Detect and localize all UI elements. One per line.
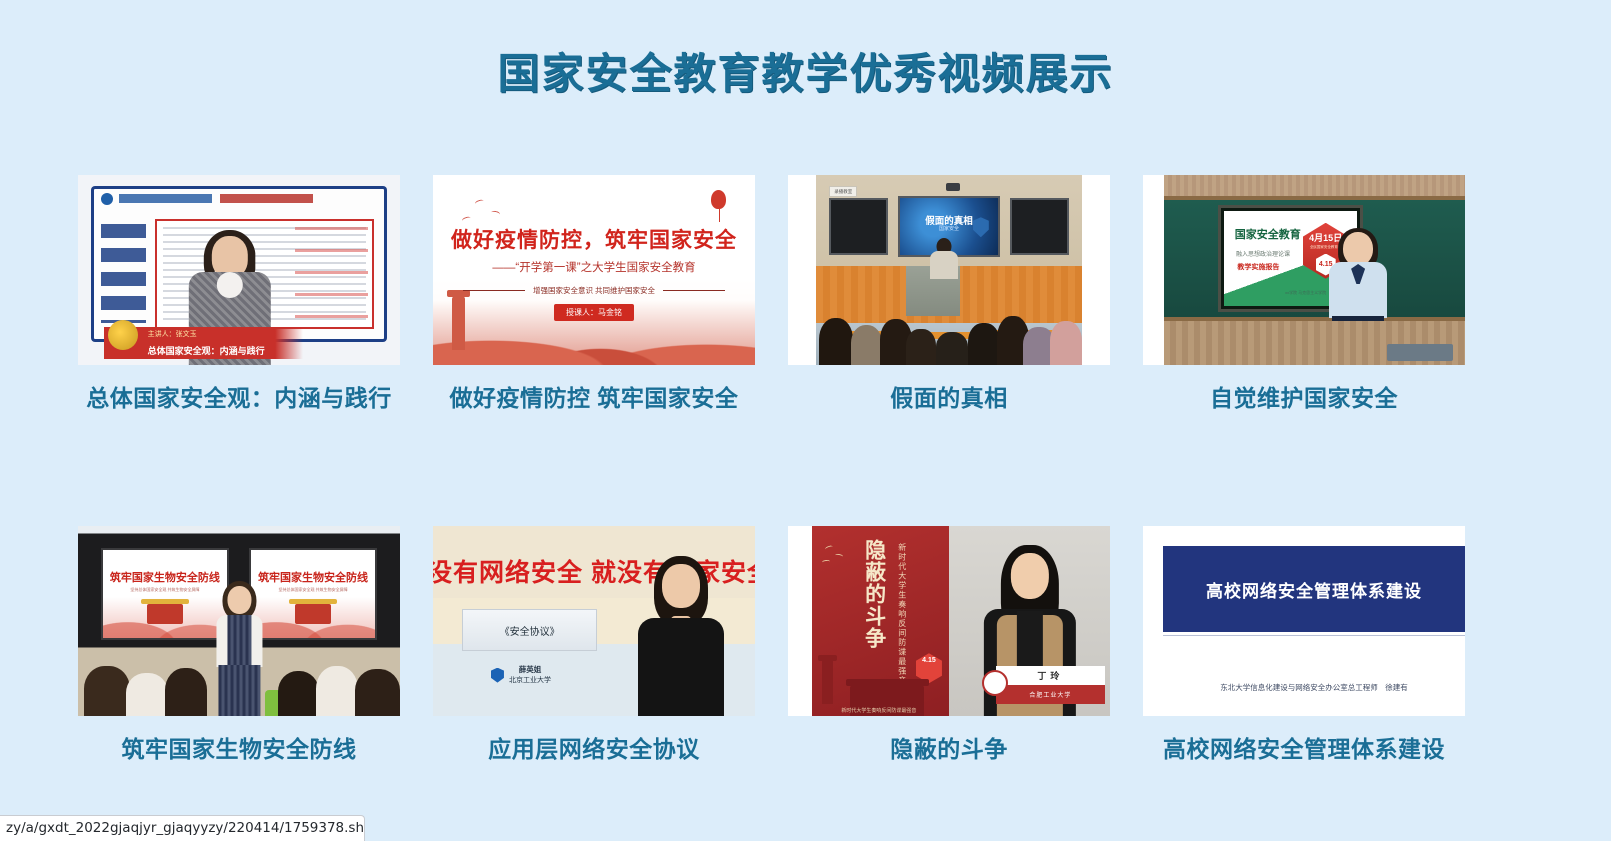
video-card-1[interactable]: 主讲人：张文玉 总体国家安全观：内涵与践行 总体国家安全观：内涵与践行 xyxy=(78,175,400,413)
topic-panel: 《安全协议》 xyxy=(462,609,597,651)
presenter-collar xyxy=(216,272,242,298)
university-logo-row xyxy=(101,190,314,207)
screen-title: 筑牢国家生物安全防线 xyxy=(103,569,228,585)
student-silhouette xyxy=(851,325,883,365)
presenter-head xyxy=(662,564,700,608)
video-card-5[interactable]: 筑牢国家生物安全防线 坚持总体国家安全观 共筑生物安全屏障 筑牢国家生物安全防线… xyxy=(78,526,400,764)
screen-title: 筑牢国家生物安全防线 xyxy=(251,569,376,585)
video-thumbnail-7[interactable]: 丁玲 合肥工业大学 隐蔽的斗争 新时代大学生奏响反间防谍最强音 4.15 新时代… xyxy=(788,526,1110,716)
lower-third-title: 总体国家安全观：内涵与践行 xyxy=(148,344,265,357)
speaker-credit-text: 薛英姐 北京工业大学 xyxy=(509,664,551,686)
presenter-panel: 丁玲 合肥工业大学 xyxy=(949,526,1110,716)
screen-subtitle: 坚持总体国家安全观 共筑生物安全屏障 xyxy=(103,587,228,593)
slide-divider xyxy=(1163,635,1465,637)
screen-subtitle: 国家安全 xyxy=(900,225,997,232)
video-thumbnail-4[interactable]: 国家安全教育 融入思想政治理论课 教学实施报告 xx学院 马克思主义学院 4月1… xyxy=(1143,175,1465,365)
poster-footer-note: 新时代大学生奏响反间防谍最强音 xyxy=(841,707,916,714)
presentation-screen-right: 筑牢国家生物安全防线 坚持总体国家安全观 共筑生物安全屏障 xyxy=(249,548,378,639)
poster-speaker-badge: 授课人：马金铭 xyxy=(554,304,634,321)
presenter-head xyxy=(1010,553,1048,599)
video-thumbnail-2[interactable]: 做好疫情防控，筑牢国家安全 ——“开学第一课”之大学生国家安全教育 增强国家安全… xyxy=(433,175,755,365)
tiananmen-icon xyxy=(147,604,183,624)
slide-title: 高校网络安全管理体系建设 xyxy=(1206,577,1422,602)
video-caption-8[interactable]: 高校网络安全管理体系建设 xyxy=(1143,736,1465,764)
video-gallery-page: 国家安全教育教学优秀视频展示 xyxy=(0,0,1611,841)
presenter-body xyxy=(638,618,724,716)
seal-icon xyxy=(982,670,1008,696)
video-thumbnail-6[interactable]: 没有网络安全 就没有国家安全 《安全协议》 薛英姐 北京工业大学 xyxy=(433,526,755,716)
video-caption-1[interactable]: 总体国家安全观：内涵与践行 xyxy=(78,385,400,413)
page-title: 国家安全教育教学优秀视频展示 xyxy=(0,40,1611,101)
video-caption-5[interactable]: 筑牢国家生物安全防线 xyxy=(78,736,400,764)
student-silhouette xyxy=(126,673,168,716)
lower-third-speaker: 主讲人：张文玉 xyxy=(148,329,197,339)
video-card-8[interactable]: 高校网络安全管理体系建设 东北大学信息化建设与网络安全办公室总工程师 徐建有 高… xyxy=(1143,526,1465,764)
student-silhouette xyxy=(906,329,935,365)
student-silhouette xyxy=(968,323,1000,365)
student-silhouette xyxy=(165,668,207,716)
student-silhouette xyxy=(1050,321,1082,365)
student-audience xyxy=(816,274,1082,365)
huabiao-pillar-icon xyxy=(452,296,465,350)
slide-line3: 教学实施报告 xyxy=(1237,262,1279,272)
document-red-column xyxy=(295,227,368,321)
video-card-6[interactable]: 没有网络安全 就没有国家安全 《安全协议》 薛英姐 北京工业大学 xyxy=(433,526,755,764)
student-audience xyxy=(78,636,400,716)
presentation-screen-left: 筑牢国家生物安全防线 坚持总体国家安全观 共筑生物安全屏障 xyxy=(101,548,230,639)
teacher-figure xyxy=(932,238,956,274)
presenter-shirt xyxy=(1016,611,1042,671)
video-card-7[interactable]: 丁玲 合肥工业大学 隐蔽的斗争 新时代大学生奏响反间防谍最强音 4.15 新时代… xyxy=(788,526,1110,764)
slide-title: 国家安全教育 xyxy=(1235,226,1301,242)
teacher-desk xyxy=(1387,344,1453,361)
poster-title: 隐蔽的斗争 xyxy=(855,539,885,649)
speaker-org: 北京工业大学 xyxy=(509,677,551,684)
video-caption-2[interactable]: 做好疫情防控 筑牢国家安全 xyxy=(433,385,755,413)
student-silhouette xyxy=(278,671,320,716)
student-silhouette xyxy=(936,332,968,365)
screen-subtitle: 坚持总体国家安全观 共筑生物安全屏障 xyxy=(251,587,376,593)
poster-subheadline: ——“开学第一课”之大学生国家安全教育 xyxy=(433,259,755,275)
side-screen-left xyxy=(829,198,888,255)
rule-line-left xyxy=(463,290,525,292)
student-silhouette xyxy=(355,669,400,715)
panel-title: 《安全协议》 xyxy=(500,623,560,638)
classroom-ceiling xyxy=(1164,175,1465,198)
camera-icon xyxy=(946,183,960,191)
university-emblem-icon xyxy=(101,193,113,205)
poster-headline: 做好疫情防控，筑牢国家安全 xyxy=(433,224,755,254)
vertical-calligraphy-text xyxy=(101,224,146,323)
video-caption-7[interactable]: 隐蔽的斗争 xyxy=(788,736,1110,764)
video-caption-4[interactable]: 自觉维护国家安全 xyxy=(1143,385,1465,413)
poster-subtitle: 新时代大学生奏响反间防谍最强音 xyxy=(897,543,908,686)
video-card-2[interactable]: 做好疫情防控，筑牢国家安全 ——“开学第一课”之大学生国家安全教育 增强国家安全… xyxy=(433,175,755,413)
huabiao-pillar-icon xyxy=(822,660,833,704)
shield-icon xyxy=(491,668,504,683)
slide-title-band: 高校网络安全管理体系建设 xyxy=(1163,546,1465,632)
student-silhouette xyxy=(316,666,358,715)
party-emblem-icon xyxy=(108,320,138,350)
red-poster: 隐蔽的斗争 新时代大学生奏响反间防谍最强音 4.15 xyxy=(812,526,949,716)
lower-third-banner: 主讲人：张文玉 总体国家安全观：内涵与践行 xyxy=(104,327,304,359)
corner-tag: 录播教室 xyxy=(829,186,857,197)
video-thumbnail-5[interactable]: 筑牢国家生物安全防线 坚持总体国家安全观 共筑生物安全屏障 筑牢国家生物安全防线… xyxy=(78,526,400,716)
side-screen-right xyxy=(1010,198,1069,255)
video-thumbnail-1[interactable]: 主讲人：张文玉 总体国家安全观：内涵与践行 xyxy=(78,175,400,365)
video-card-3[interactable]: 假面的真相 国家安全 录播教室 xyxy=(788,175,1110,413)
video-caption-3[interactable]: 假面的真相 xyxy=(788,385,1110,413)
teacher-head xyxy=(1343,232,1373,266)
teacher-head xyxy=(227,586,251,614)
speaker-name-card: 丁玲 合肥工业大学 xyxy=(996,666,1106,704)
speaker-org: 合肥工业大学 xyxy=(996,685,1106,704)
video-thumbnail-8[interactable]: 高校网络安全管理体系建设 东北大学信息化建设与网络安全办公室总工程师 徐建有 xyxy=(1143,526,1465,716)
speaker-credit: 薛英姐 北京工业大学 xyxy=(491,664,551,686)
poster-tagline-row: 增强国家安全意识 共同维护国家安全 xyxy=(433,285,755,296)
tiananmen-icon xyxy=(295,604,331,624)
speaker-name: 丁玲 xyxy=(996,666,1106,685)
poster-tagline: 增强国家安全意识 共同维护国家安全 xyxy=(533,285,655,296)
student-silhouette xyxy=(819,318,854,365)
slide-line2: 融入思想政治理论课 xyxy=(1236,249,1290,258)
video-caption-6[interactable]: 应用层网络安全协议 xyxy=(433,736,755,764)
speaker-name: 薛英姐 xyxy=(509,664,551,675)
slide-footer: xx学院 马克思主义学院 xyxy=(1285,290,1326,296)
browser-status-bar-url: zy/a/gxdt_2022gjaqjyr_gjaqyyzy/220414/17… xyxy=(0,815,365,841)
university-name-text xyxy=(119,194,314,203)
video-thumbnail-3[interactable]: 假面的真相 国家安全 录播教室 xyxy=(788,175,1110,365)
presenter-figure xyxy=(639,556,723,716)
slide-credit: 东北大学信息化建设与网络安全办公室总工程师 徐建有 xyxy=(1163,682,1465,693)
balloon-icon xyxy=(711,190,726,209)
student-silhouette xyxy=(84,666,129,715)
video-card-4[interactable]: 国家安全教育 融入思想政治理论课 教学实施报告 xx学院 马克思主义学院 4月1… xyxy=(1143,175,1465,413)
video-grid: 主讲人：张文玉 总体国家安全观：内涵与践行 总体国家安全观：内涵与践行 xyxy=(78,175,1470,763)
rule-line-right xyxy=(663,290,725,292)
